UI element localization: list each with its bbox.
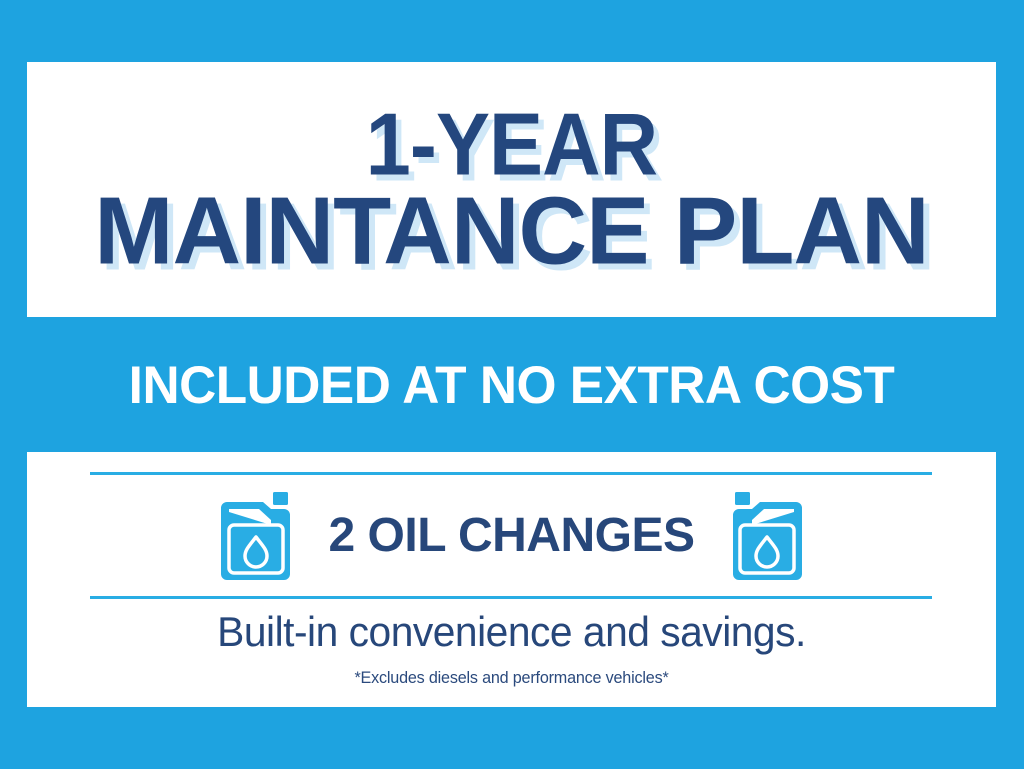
headline-line-1: 1-YEAR	[66, 103, 957, 185]
oil-change-feature-row: 2 OIL CHANGES	[90, 475, 933, 596]
headline-stack: 1-YEAR MAINTANCE PLAN	[27, 103, 996, 276]
tagline: Built-in convenience and savings.	[42, 608, 982, 656]
headline-line-2: MAINTANCE PLAN	[32, 187, 991, 276]
divider-bottom	[90, 596, 932, 599]
subtitle-banner: INCLUDED AT NO EXTRA COST	[42, 330, 982, 440]
oil-change-label: 2 OIL CHANGES	[328, 508, 694, 563]
maintenance-plan-poster: 1-YEAR MAINTANCE PLAN INCLUDED AT NO EXT…	[0, 0, 1024, 769]
fine-print-disclaimer: *Excludes diesels and performance vehicl…	[51, 668, 972, 688]
oil-jug-icon	[218, 490, 294, 582]
oil-jug-icon	[729, 490, 805, 582]
headline-panel: 1-YEAR MAINTANCE PLAN	[27, 62, 996, 317]
details-panel: 2 OIL CHANGES Built-in convenience and s…	[27, 452, 996, 707]
